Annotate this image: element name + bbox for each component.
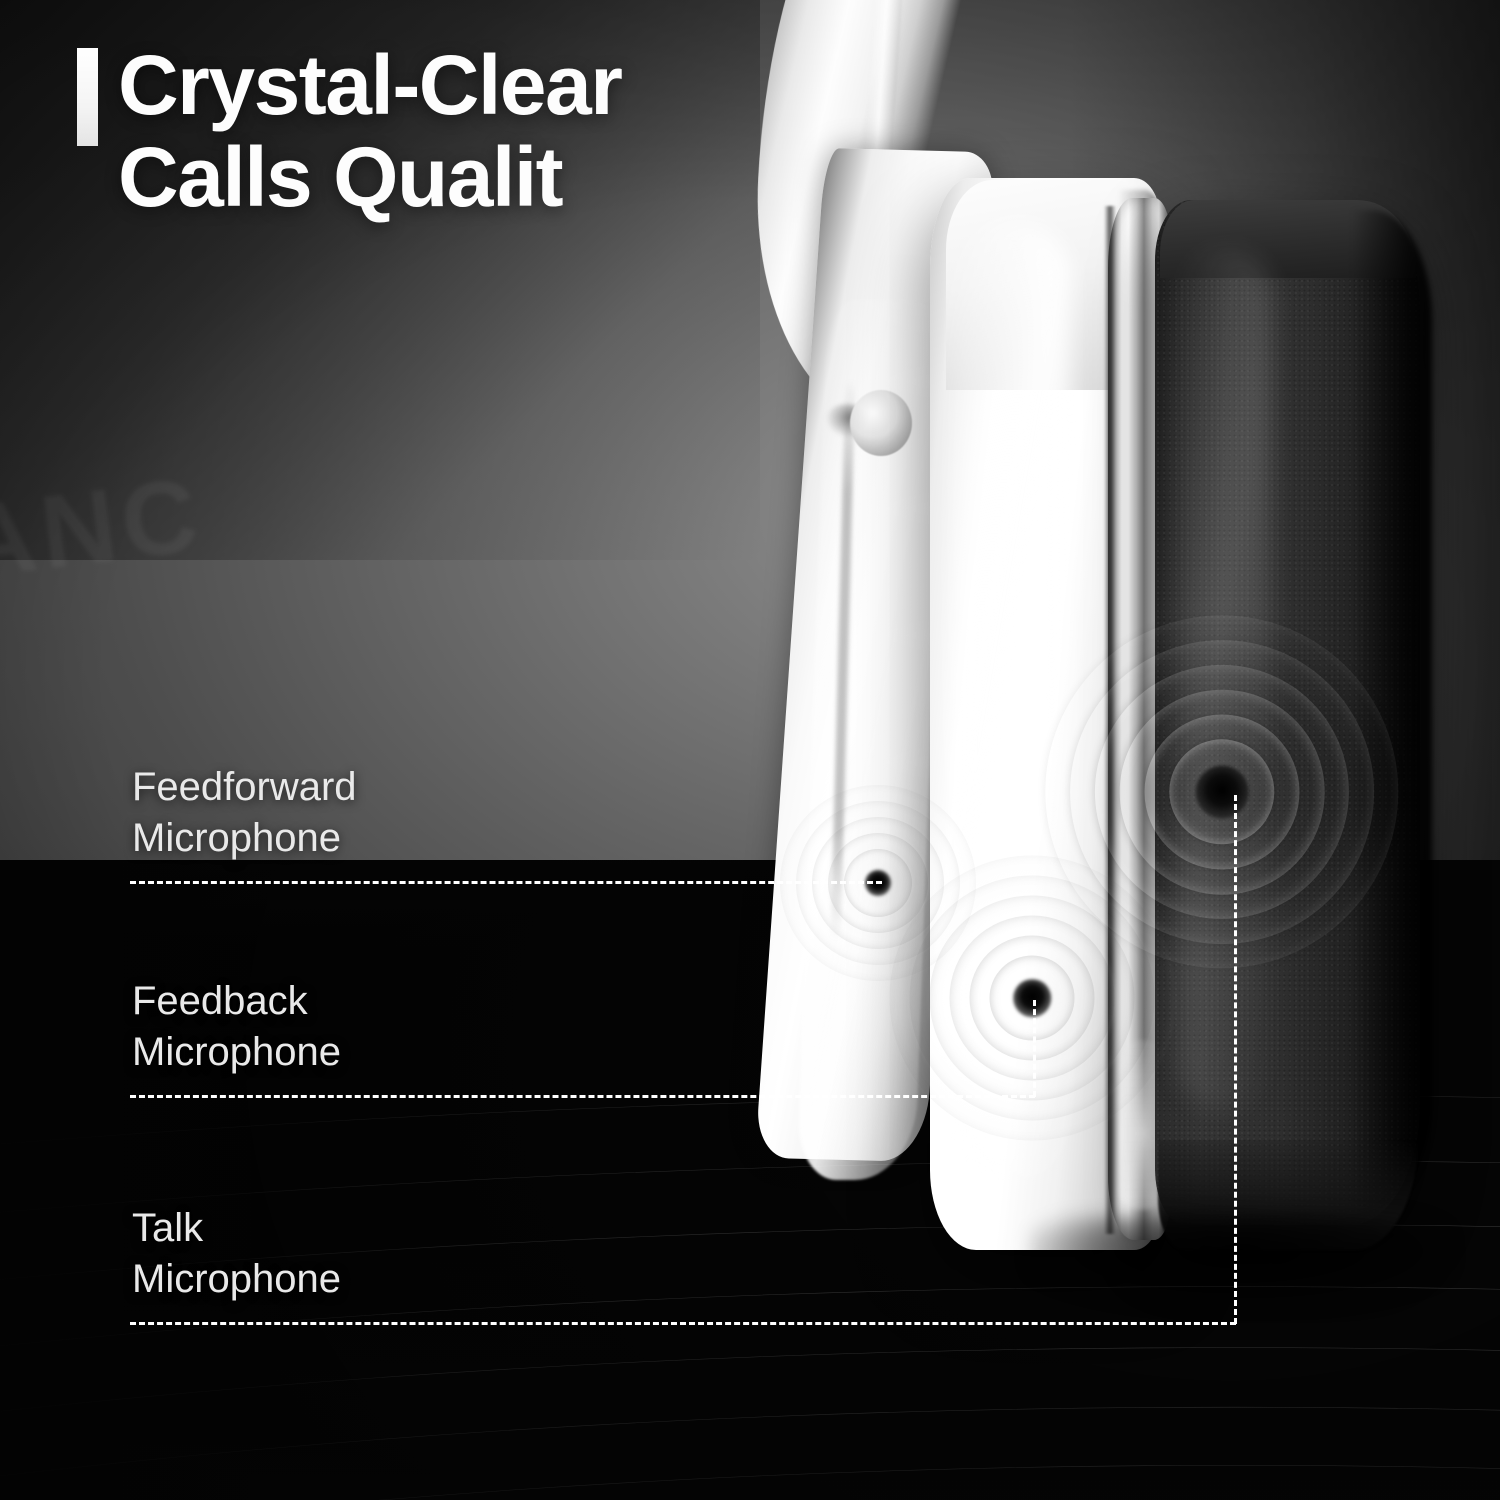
- headline-accent-bar: [77, 48, 98, 146]
- product-feature-banner: ANC: [0, 0, 1500, 1500]
- feedback-leader-line-vertical: [1033, 1000, 1036, 1097]
- callout-talk: Talk Microphone: [132, 1203, 341, 1305]
- callout-feedforward-label: Feedforward Microphone: [132, 762, 357, 864]
- sound-ripple-floor: [0, 860, 1500, 1500]
- feedback-leader-line-horizontal: [130, 1095, 1035, 1098]
- callout-feedback-label: Feedback Microphone: [132, 976, 341, 1078]
- callout-talk-label: Talk Microphone: [132, 1203, 341, 1305]
- feedforward-leader-line: [130, 881, 882, 884]
- page-title: Crystal-Clear Calls Qualit: [118, 40, 878, 223]
- callout-feedback: Feedback Microphone: [132, 976, 341, 1078]
- callout-feedforward: Feedforward Microphone: [132, 762, 357, 864]
- talk-leader-line-horizontal: [130, 1322, 1236, 1325]
- talk-leader-line-vertical: [1234, 795, 1237, 1324]
